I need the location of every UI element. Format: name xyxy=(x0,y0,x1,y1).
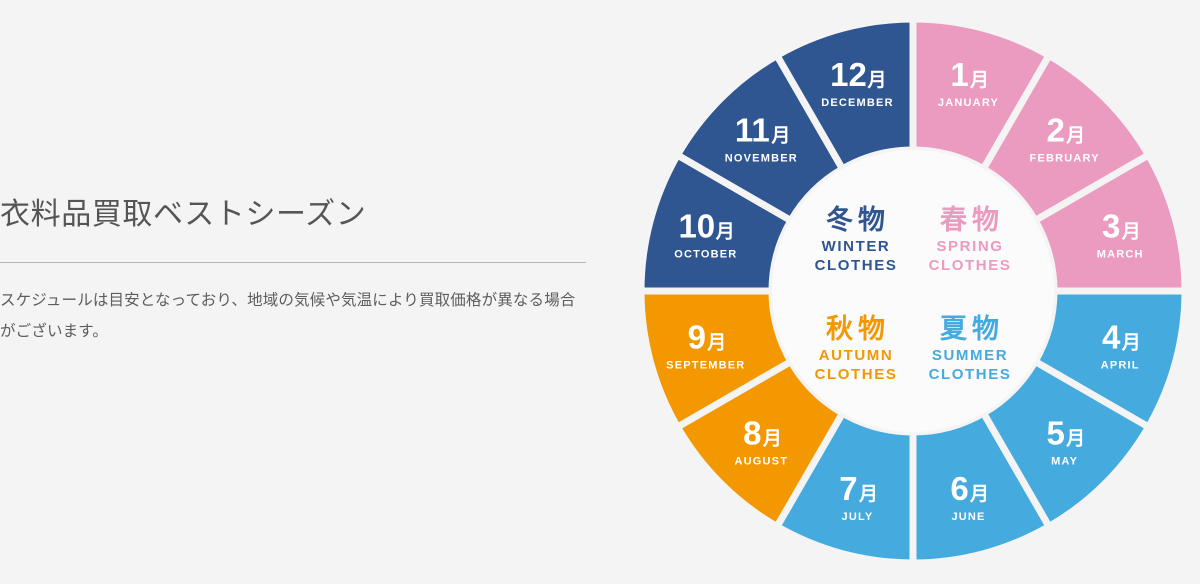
month-english-label: JUNE xyxy=(951,511,985,523)
season-english-line1: AUTUMN xyxy=(819,347,894,364)
season-kanji: 冬物 xyxy=(826,204,890,236)
month-kanji: 月 xyxy=(969,69,989,91)
page-description: スケジュールは目安となっており、地域の気候や気温により買取価格が異なる場合がござ… xyxy=(0,263,586,347)
month-number: 6 xyxy=(950,470,968,507)
season-english-line1: SUMMER xyxy=(932,347,1008,364)
month-kanji: 月 xyxy=(762,428,782,450)
month-english-label: FEBRUARY xyxy=(1030,152,1100,164)
month-kanji: 月 xyxy=(1065,428,1085,450)
month-number: 9 xyxy=(688,319,706,356)
month-english-label: MARCH xyxy=(1097,248,1144,260)
season-english-line1: WINTER xyxy=(822,238,891,255)
season-legend-autumn: 秋物AUTUMNCLOTHES xyxy=(815,314,898,383)
month-number: 12 xyxy=(830,56,867,93)
season-legend-spring: 春物SPRINGCLOTHES xyxy=(929,205,1012,274)
month-number: 4 xyxy=(1102,319,1121,356)
month-english-label: JANUARY xyxy=(938,97,999,109)
season-kanji: 秋物 xyxy=(826,314,890,345)
season-kanji: 春物 xyxy=(940,205,1004,236)
month-number: 7 xyxy=(839,470,857,507)
month-number: 1 xyxy=(950,56,968,93)
month-number: 11 xyxy=(735,111,770,148)
month-number: 10 xyxy=(678,207,715,244)
month-kanji: 月 xyxy=(1065,124,1085,146)
month-kanji: 月 xyxy=(1121,220,1141,242)
month-kanji: 月 xyxy=(1121,332,1141,354)
season-kanji: 夏物 xyxy=(940,314,1004,345)
season-english-line2: CLOTHES xyxy=(815,366,898,383)
inner-disc xyxy=(772,150,1054,432)
season-english-line2: CLOTHES xyxy=(815,257,898,274)
month-english-label: OCTOBER xyxy=(674,248,737,260)
text-panel: 衣料品買取ベストシーズン スケジュールは目安となっており、地域の気候や気温により… xyxy=(0,196,586,347)
month-english-label: JULY xyxy=(842,511,874,523)
season-english-line2: CLOTHES xyxy=(929,257,1012,274)
month-english-label: MAY xyxy=(1051,456,1078,468)
season-legend-summer: 夏物SUMMERCLOTHES xyxy=(929,314,1012,383)
month-english-label: NOVEMBER xyxy=(725,152,798,164)
donut-svg: 1月JANUARY2月FEBRUARY3月MARCH4月APRIL5月MAY6月… xyxy=(620,0,1200,584)
month-kanji: 月 xyxy=(858,483,878,505)
month-number: 8 xyxy=(743,415,761,452)
month-number: 5 xyxy=(1046,415,1064,452)
season-legend-winter: 冬物WINTERCLOTHES xyxy=(815,204,898,274)
month-kanji: 月 xyxy=(969,483,989,505)
month-english-label: SEPTEMBER xyxy=(666,360,745,372)
month-kanji: 月 xyxy=(706,332,726,354)
month-number: 3 xyxy=(1102,207,1120,244)
page-title: 衣料品買取ベストシーズン xyxy=(0,196,586,262)
month-english-label: AUGUST xyxy=(734,456,788,468)
month-kanji: 月 xyxy=(770,124,790,146)
month-english-label: DECEMBER xyxy=(821,97,894,109)
month-kanji: 月 xyxy=(866,69,886,91)
season-donut-chart: 1月JANUARY2月FEBRUARY3月MARCH4月APRIL5月MAY6月… xyxy=(620,0,1200,584)
month-kanji: 月 xyxy=(715,220,735,242)
season-english-line1: SPRING xyxy=(936,238,1003,255)
month-english-label: APRIL xyxy=(1101,360,1140,372)
month-number: 2 xyxy=(1046,111,1064,148)
season-english-line2: CLOTHES xyxy=(929,366,1012,383)
